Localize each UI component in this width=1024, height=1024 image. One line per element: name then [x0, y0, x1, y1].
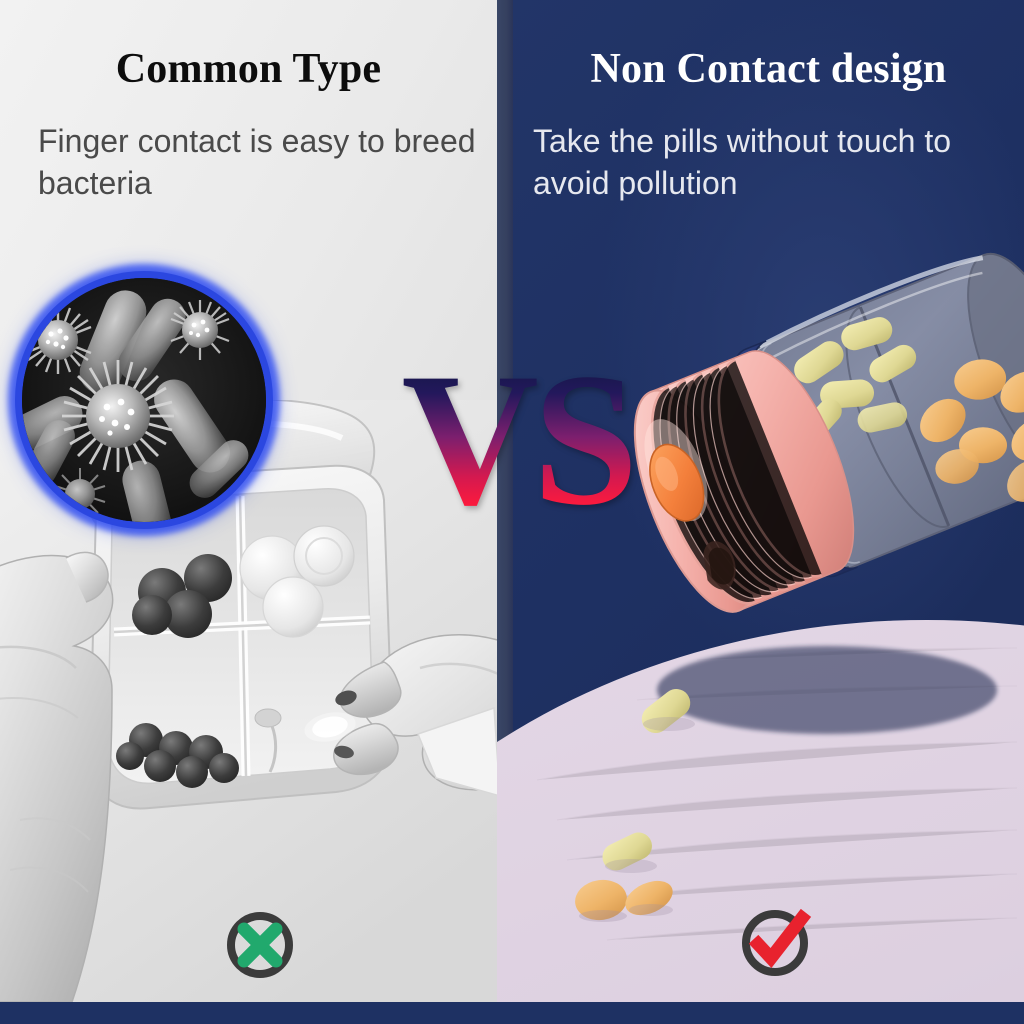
- bacteria-magnifier: [8, 264, 280, 536]
- cross-badge: [223, 908, 297, 982]
- left-panel-title: Common Type: [0, 45, 497, 93]
- bacteria-disc: [22, 278, 266, 522]
- vs-label: VS: [386, 356, 648, 524]
- check-badge: [738, 906, 812, 980]
- bottom-bar: [0, 1002, 1024, 1024]
- right-panel-title: Non Contact design: [513, 45, 1024, 93]
- right-panel-subtitle: Take the pills without touch to avoid po…: [533, 120, 1024, 204]
- comparison-infographic: Common Type Finger contact is easy to br…: [0, 0, 1024, 1024]
- left-panel-subtitle: Finger contact is easy to breed bacteria: [38, 120, 478, 204]
